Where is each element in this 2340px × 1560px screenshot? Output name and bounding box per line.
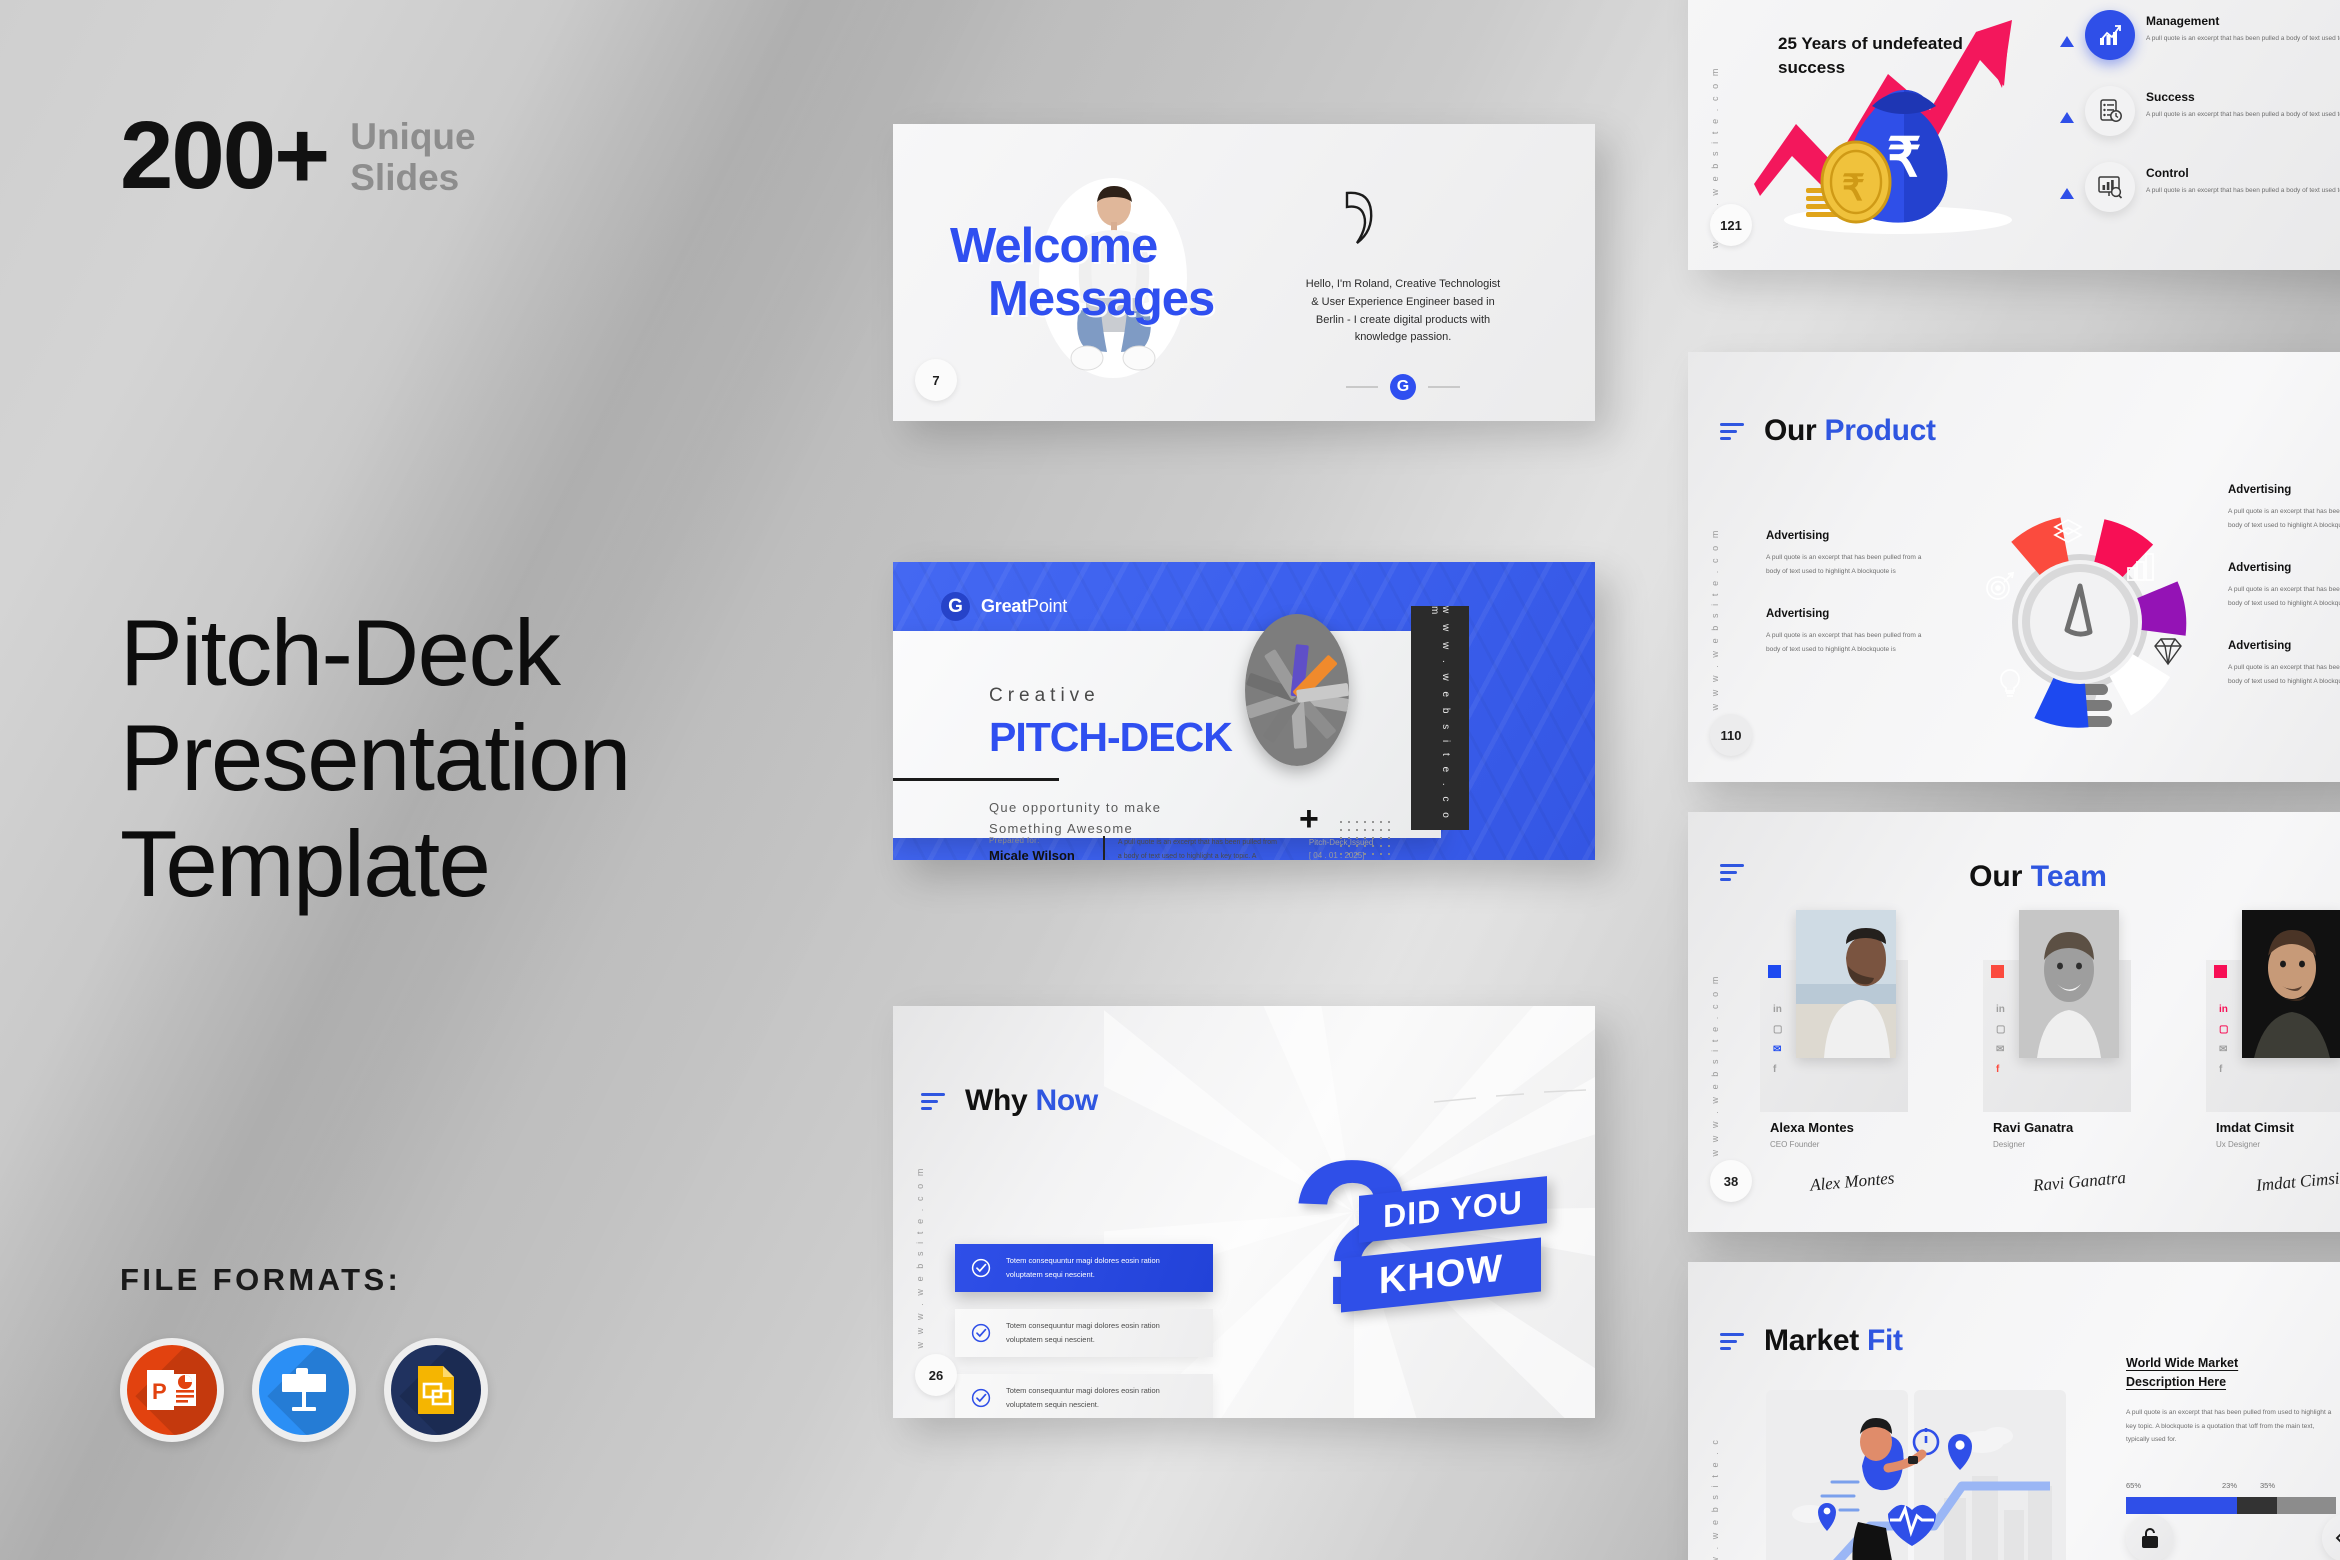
brand-logo: G GreatPoint [941, 592, 1067, 621]
feature-list: Management A pull quote is an excerpt th… [2060, 10, 2340, 238]
section-title-plain: Our [1969, 860, 2031, 893]
cover-rule [893, 778, 1059, 781]
stat-value-2: 23% [2222, 1481, 2260, 1490]
member-role: Ux Designer [2216, 1140, 2260, 1149]
avatar [1796, 910, 1896, 1058]
section-header-why-now: Why Now [921, 1084, 1098, 1118]
cover-subtitle-line1: Que opportunity to make [989, 800, 1161, 815]
cover-dates: Pitch-Deck Issued [ 04 . 01 . 2025] Pitc… [1309, 836, 1376, 860]
triangle-bullet-icon [2060, 188, 2074, 199]
divider-line-right [1428, 386, 1460, 388]
bar-segment-1 [2126, 1497, 2237, 1514]
member-social-links[interactable]: in ▢ ✉ f [1996, 1004, 2005, 1075]
list-item-body: A pull quote is an excerpt that has been… [1766, 551, 1922, 578]
check-circle-icon [971, 1258, 991, 1278]
stat-value-1: 65% [2126, 1481, 2222, 1490]
page-title-line3: Template [120, 811, 489, 916]
menu-bars-icon [921, 1093, 945, 1110]
facebook-icon[interactable]: f [2219, 1064, 2228, 1075]
slide-pitch-deck-cover[interactable]: G GreatPoint Creative PITCH-DECK Que opp… [893, 562, 1595, 860]
section-title: Our Team [1688, 860, 2340, 894]
cover-url-sidebar: w w w . w e b s i t e . c o m [1411, 606, 1469, 830]
avatar [2242, 910, 2340, 1058]
page-title-line2: Presentation [120, 705, 630, 810]
member-role: CEO Founder [1770, 1140, 1819, 1149]
market-panel: World Wide Market Description Here A pul… [2126, 1354, 2336, 1514]
slide-welcome-messages[interactable]: Welcome Messages Hello, I'm Roland, Crea… [893, 124, 1595, 421]
welcome-body-text: Hello, I'm Roland, Creative Technologist… [1303, 276, 1503, 347]
list-item[interactable]: Totem consequuntur magi dolores eosin ra… [955, 1309, 1213, 1357]
list-item-heading: Control [2146, 166, 2340, 180]
list-item-body: A pull quote is an excerpt that has been… [2228, 583, 2340, 610]
market-illustration [1766, 1390, 2066, 1560]
slide-count-label-line1: Unique [350, 116, 475, 157]
list-item-body: A pull quote is an excerpt that has been… [2228, 505, 2340, 532]
quotation-mark-icon [1341, 189, 1375, 256]
check-circle-icon [971, 1323, 991, 1343]
page-badge: 7 [915, 359, 957, 401]
section-header-our-product: Our Product [1720, 414, 1936, 448]
list-item[interactable]: Management A pull quote is an excerpt th… [2060, 10, 2340, 60]
list-item-text: Totem consequuntur magi dolores eosin ra… [1006, 1254, 1197, 1282]
member-signature: Ravi Ganatra [2032, 1168, 2126, 1196]
svg-text:₹: ₹ [1887, 128, 1921, 188]
list-item-body: A pull quote is an excerpt that has been… [2146, 109, 2340, 122]
checklist-clock-icon [2085, 86, 2135, 136]
greatpoint-logo-badge: G [1390, 374, 1416, 400]
cover-url-text: w w w . w e b s i t e . c o m [1429, 606, 1451, 830]
twitter-icon[interactable]: ✉ [2219, 1044, 2228, 1055]
cover-headline: PITCH-DECK [989, 714, 1232, 761]
page-badge: 38 [1710, 1160, 1752, 1202]
cover-subtitle: Que opportunity to make Something Awesom… [989, 798, 1161, 840]
powerpoint-icon-glyph: P [127, 1345, 217, 1435]
khow-tag-text: KHOW [1379, 1247, 1503, 1303]
panel-heading: World Wide Market Description Here [2126, 1354, 2336, 1393]
vertical-url: w w w . w e b s i t e . c o m [1710, 1428, 1730, 1560]
powerpoint-icon[interactable]: P [120, 1338, 224, 1442]
section-title-plain: Our [1764, 414, 1824, 447]
member-signature: Alex Montes [1809, 1168, 1895, 1195]
facebook-icon[interactable]: f [1996, 1064, 2005, 1075]
promo-column: 200+ Unique Slides Pitch-Deck Presentati… [120, 0, 880, 1560]
linkedin-icon[interactable]: in [2219, 1004, 2228, 1015]
welcome-divider: G [1325, 374, 1481, 400]
list-item[interactable]: Success A pull quote is an excerpt that … [2060, 86, 2340, 136]
member-role: Designer [1993, 1140, 2025, 1149]
list-item-heading: Advertising [1766, 530, 1922, 542]
welcome-title-line1: Welcome [950, 219, 1157, 273]
market-action-icons [2126, 1514, 2340, 1560]
google-slides-icon-glyph [391, 1345, 481, 1435]
slide-why-now[interactable]: Why Now w w w . w e b s i t e . c o m To… [893, 1006, 1595, 1418]
page-badge: 110 [1710, 714, 1752, 756]
product-left-list: Advertising A pull quote is an excerpt t… [1766, 530, 1922, 686]
list-item[interactable]: Control A pull quote is an excerpt that … [2060, 162, 2340, 212]
list-item-body: A pull quote is an excerpt that has been… [1766, 629, 1922, 656]
list-item-heading: Advertising [2228, 562, 2340, 574]
section-title-plain: Why [965, 1084, 1035, 1117]
twitter-icon[interactable]: ✉ [1773, 1044, 1782, 1055]
list-item-heading: Advertising [1766, 608, 1922, 620]
menu-bars-icon [1720, 423, 1744, 440]
stat-legend: 65% 23% 35% [2126, 1481, 2336, 1490]
slide-count-label: Unique Slides [350, 108, 475, 199]
page-title: Pitch-Deck Presentation Template [120, 600, 630, 916]
slide-our-product[interactable]: Our Product w w w . w e b s i t e . c o … [1688, 352, 2340, 782]
did-you-tag-text: DID YOU [1383, 1184, 1523, 1236]
member-name: Imdat Cimsit [2216, 1120, 2294, 1135]
slide-count-block: 200+ Unique Slides [120, 108, 476, 204]
list-item[interactable]: Totem consequuntur magi dolores eosin ra… [955, 1374, 1213, 1418]
member-signature: Imdat Cimsit [2255, 1168, 2340, 1196]
slide-25-years[interactable]: 25 Years of undefeated success w w w . w… [1688, 0, 2340, 270]
cover-prepared-block: Prepared for: Micale Wilson Company Mana… [989, 836, 1075, 860]
section-title-accent: Now [1035, 1084, 1097, 1117]
svg-text:P: P [152, 1379, 167, 1404]
list-item-heading: Management [2146, 14, 2340, 28]
member-accent-square [1991, 965, 2004, 978]
list-item-heading: Advertising [2228, 484, 2340, 496]
list-item-heading: Advertising [2228, 640, 2340, 652]
panel-body: A pull quote is an excerpt that has been… [2126, 1406, 2336, 1448]
page-title-line1: Pitch-Deck [120, 600, 559, 705]
section-title-accent: Fit [1867, 1324, 1903, 1357]
growth-money-illustration: ₹ ₹ [1748, 14, 2028, 244]
instagram-icon[interactable]: ▢ [1996, 1024, 2005, 1035]
cover-photo-oval [1245, 614, 1349, 766]
section-title-accent: Product [1824, 414, 1935, 447]
brand-name-thin: Point [1027, 596, 1067, 616]
member-accent-square [1768, 965, 1781, 978]
list-item-body: A pull quote is an excerpt that has been… [2146, 33, 2340, 46]
keynote-icon[interactable] [252, 1338, 356, 1442]
member-accent-square [2214, 965, 2227, 978]
triangle-bullet-icon [2060, 112, 2074, 123]
google-slides-icon[interactable] [384, 1338, 488, 1442]
list-item-heading: Success [2146, 90, 2340, 104]
menu-bars-icon [1720, 1333, 1744, 1350]
section-title: Why Now [965, 1084, 1098, 1118]
cover-subtitle-line2: Something Awesome [989, 821, 1133, 836]
bar-segment-2 [2237, 1497, 2277, 1514]
section-title: Market Fit [1764, 1324, 1903, 1358]
slide-market-fit[interactable]: Market Fit w w w . w e b s i t e . c o m [1688, 1262, 2340, 1560]
linkedin-icon[interactable]: in [1773, 1004, 1782, 1015]
list-item[interactable]: Totem consequuntur magi dolores eosin ra… [955, 1244, 1213, 1292]
why-now-list: Totem consequuntur magi dolores eosin ra… [955, 1244, 1213, 1418]
slide-count-number: 200+ [120, 108, 328, 204]
bar-segment-3 [2277, 1497, 2336, 1514]
vertical-url: w w w . w e b s i t e . c o m [915, 1166, 925, 1348]
list-item-body: A pull quote is an excerpt that has been… [2146, 185, 2340, 198]
analytics-search-icon [2085, 162, 2135, 212]
linkedin-icon[interactable]: in [1996, 1004, 2005, 1015]
product-wheel-illustration [1928, 472, 2208, 762]
section-title: Our Product [1764, 414, 1936, 448]
keynote-icon-glyph [259, 1345, 349, 1435]
file-format-icons: P [120, 1338, 488, 1442]
brand-name: GreatPoint [981, 596, 1067, 617]
page-badge: 26 [915, 1354, 957, 1396]
section-title-accent: Team [2031, 860, 2107, 893]
welcome-title: Welcome Messages [950, 220, 1320, 326]
cover-footer: Prepared for: Micale Wilson Company Mana… [989, 836, 1376, 860]
list-item-text: Totem consequuntur magi dolores eosin ra… [1006, 1384, 1197, 1412]
vertical-url: w w w . w e b s i t e . c o m [1710, 974, 1720, 1156]
facebook-icon[interactable]: f [1773, 1064, 1782, 1075]
member-name: Alexa Montes [1770, 1120, 1854, 1135]
list-item-text: Totem consequuntur magi dolores eosin ra… [1006, 1319, 1197, 1347]
stacked-bar-chart [2126, 1497, 2336, 1514]
vertical-url: w w w . w e b s i t e . c o m [1710, 528, 1720, 710]
cover-plus-mark: + [1299, 802, 1319, 836]
growth-chart-icon [2085, 10, 2135, 60]
product-right-list: Advertising A pull quote is an excerpt t… [2228, 484, 2340, 718]
welcome-title-line2: Messages [988, 273, 1320, 326]
instagram-icon[interactable]: ▢ [1773, 1024, 1782, 1035]
member-name: Ravi Ganatra [1993, 1120, 2073, 1135]
section-title-plain: Market [1764, 1324, 1867, 1357]
slide-count-label-line2: Slides [350, 157, 459, 198]
divider-line-left [1346, 386, 1378, 388]
panel-heading-line1: World Wide Market [2126, 1356, 2238, 1370]
brand-name-bold: Great [981, 596, 1027, 616]
tag-icon[interactable] [2322, 1514, 2340, 1560]
triangle-bullet-icon [2060, 36, 2074, 47]
slide-our-team[interactable]: Our Team w w w . w e b s i t e . c o m i… [1688, 812, 2340, 1232]
check-circle-icon [971, 1388, 991, 1408]
cover-kicker: Creative [989, 685, 1100, 707]
member-social-links[interactable]: in ▢ ✉ f [2219, 1004, 2228, 1075]
prepared-name: Micale Wilson [989, 848, 1075, 860]
brand-mark-icon: G [941, 592, 970, 621]
member-social-links[interactable]: in ▢ ✉ f [1773, 1004, 1782, 1075]
twitter-icon[interactable]: ✉ [1996, 1044, 2005, 1055]
page-badge: 121 [1710, 204, 1752, 246]
issued-label: Pitch-Deck Issued [1309, 836, 1376, 849]
panel-heading-line2: Description Here [2126, 1375, 2226, 1389]
unlock-icon[interactable] [2126, 1514, 2174, 1560]
svg-text:₹: ₹ [1842, 167, 1865, 208]
did-you-know-graphic: ? DID YOU KHOW [1281, 1144, 1581, 1344]
file-formats-label: FILE FORMATS: [120, 1262, 401, 1298]
prepared-label: Prepared for: [989, 836, 1075, 845]
cover-pull-quote: A pull quote is an excerpt that has been… [1103, 836, 1281, 860]
section-header-market-fit: Market Fit [1720, 1324, 1903, 1358]
issued-date: [ 04 . 01 . 2025] [1309, 849, 1376, 860]
instagram-icon[interactable]: ▢ [2219, 1024, 2228, 1035]
stat-value-3: 35% [2260, 1481, 2275, 1490]
avatar [2019, 910, 2119, 1058]
list-item-body: A pull quote is an excerpt that has been… [2228, 661, 2340, 688]
